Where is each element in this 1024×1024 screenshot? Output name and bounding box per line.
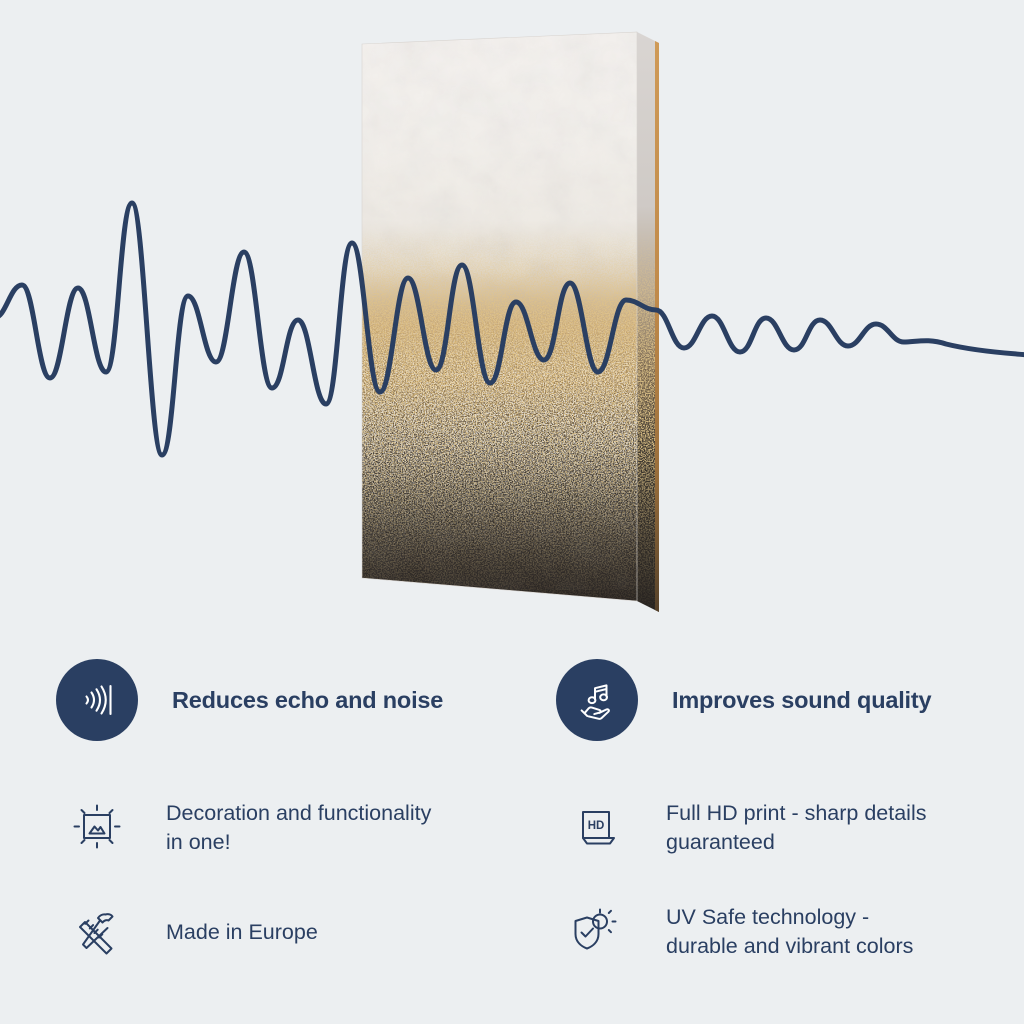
feature-highlight-label: Improves sound quality xyxy=(672,686,931,714)
feature-highlight-label: Reduces echo and noise xyxy=(172,686,443,714)
svg-text:HD: HD xyxy=(588,820,605,832)
feature-detail-label: Full HD print - sharp details guaranteed xyxy=(666,799,926,856)
uv-shield-icon xyxy=(566,901,628,963)
feature-highlight-sound-quality[interactable]: Improves sound quality xyxy=(556,640,931,760)
waveform-path xyxy=(0,203,1024,455)
feature-detail-label: UV Safe technology - durable and vibrant… xyxy=(666,903,913,960)
framed-picture-icon xyxy=(66,797,128,859)
feature-detail-made-in-europe[interactable]: Made in Europe xyxy=(56,884,318,980)
feature-highlight-reduces-echo[interactable]: Reduces echo and noise xyxy=(56,640,443,760)
feature-detail-hd-print[interactable]: HD Full HD print - sharp details guarant… xyxy=(556,780,926,876)
ruler-hammer-icon xyxy=(66,901,128,963)
hd-screen-icon: HD xyxy=(566,797,628,859)
feature-detail-label: Made in Europe xyxy=(166,918,318,947)
hand-music-note-icon xyxy=(556,659,638,741)
feature-detail-label: Decoration and functionality in one! xyxy=(166,799,431,856)
feature-detail-uv-safe[interactable]: UV Safe technology - durable and vibrant… xyxy=(556,884,913,980)
sound-waves-icon xyxy=(56,659,138,741)
infographic-stage: Reduces echo and noise Improves sound qu… xyxy=(0,0,1024,1024)
hero-section xyxy=(0,0,1024,640)
feature-detail-decoration[interactable]: Decoration and functionality in one! xyxy=(56,780,431,876)
features-section: Reduces echo and noise Improves sound qu… xyxy=(0,640,1024,1024)
sound-waveform xyxy=(0,0,1024,640)
